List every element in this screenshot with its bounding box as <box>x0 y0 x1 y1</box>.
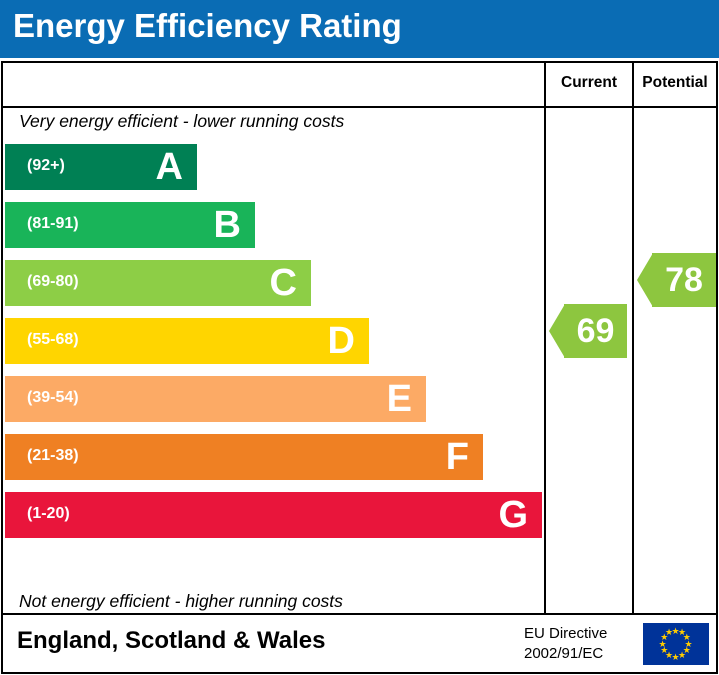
column-header-current: Current <box>546 74 632 92</box>
band-letter-f: F <box>446 431 469 483</box>
current-rating-pointer: 69 <box>549 304 629 358</box>
band-bar-a: (92+) A <box>5 144 197 190</box>
eu-flag-icon: ★★★★★★★★★★★★ <box>643 623 709 665</box>
band-range-e: (39-54) <box>27 389 79 407</box>
band-range-d: (55-68) <box>27 331 79 349</box>
band-letter-g: G <box>498 489 528 541</box>
chart-footer: England, Scotland & Wales EU Directive 2… <box>1 615 718 674</box>
band-bar-f: (21-38) F <box>5 434 483 480</box>
note-top: Very energy efficient - lower running co… <box>19 111 344 132</box>
band-bar-c: (69-80) C <box>5 260 311 306</box>
band-letter-d: D <box>328 315 355 367</box>
column-header-potential: Potential <box>634 74 716 92</box>
band-bar-g: (1-20) G <box>5 492 542 538</box>
eu-directive-text: EU Directive 2002/91/EC <box>524 624 607 664</box>
eu-star-icon: ★ <box>665 628 673 637</box>
eu-directive-line1: EU Directive <box>524 624 607 644</box>
footer-region-label: England, Scotland & Wales <box>17 627 325 655</box>
band-range-a: (92+) <box>27 157 65 175</box>
band-range-c: (69-80) <box>27 273 79 291</box>
band-letter-e: E <box>387 373 412 425</box>
note-bottom: Not energy efficient - higher running co… <box>19 591 343 612</box>
band-letter-c: C <box>270 257 297 309</box>
chart-frame: Current Potential Very energy efficient … <box>1 61 718 615</box>
band-letter-b: B <box>214 199 241 251</box>
band-range-g: (1-20) <box>27 505 70 523</box>
epc-chart: Energy Efficiency Rating Current Potenti… <box>0 0 719 675</box>
pointer-arrow-current <box>549 304 565 358</box>
eu-directive-line2: 2002/91/EC <box>524 644 607 664</box>
pointer-arrow-potential <box>637 253 653 307</box>
header-divider <box>3 106 716 108</box>
band-range-f: (21-38) <box>27 447 79 465</box>
column-separator-current <box>544 63 546 613</box>
band-range-b: (81-91) <box>27 215 79 233</box>
title-bar: Energy Efficiency Rating <box>0 0 719 58</box>
column-separator-potential <box>632 63 634 613</box>
potential-rating-value: 78 <box>652 253 716 307</box>
band-bar-d: (55-68) D <box>5 318 369 364</box>
potential-rating-pointer: 78 <box>637 253 716 307</box>
band-letter-a: A <box>156 141 183 193</box>
band-bar-e: (39-54) E <box>5 376 426 422</box>
band-bar-b: (81-91) B <box>5 202 255 248</box>
current-rating-value: 69 <box>564 304 627 358</box>
page-title: Energy Efficiency Rating <box>13 7 402 45</box>
